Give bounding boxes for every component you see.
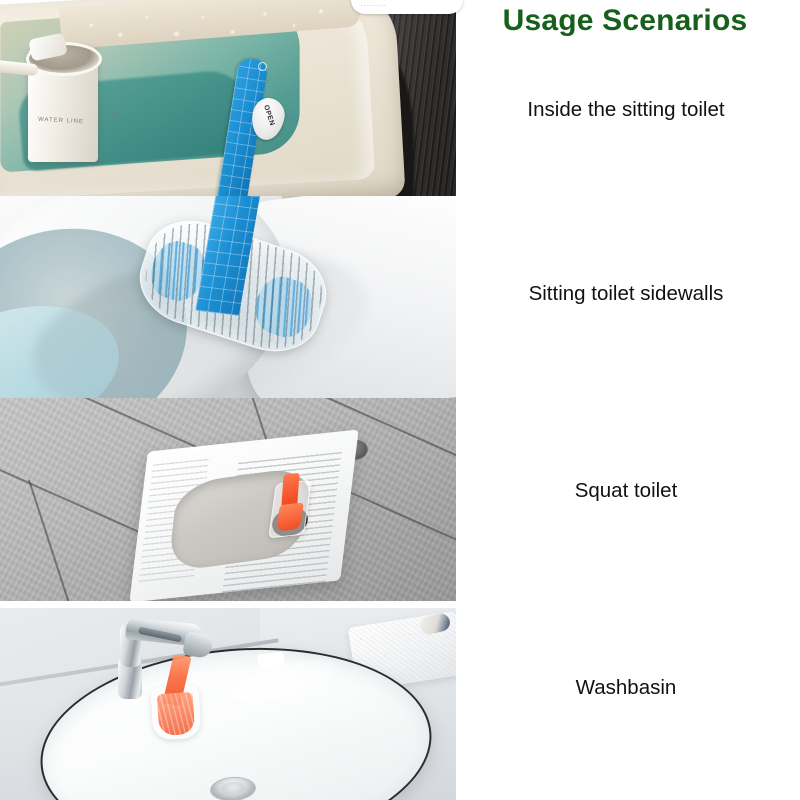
text-column: Usage Scenarios Inside the sitting toile… bbox=[456, 0, 800, 800]
usage-scenarios-infographic: WATER LINE MIN OPEN bbox=[0, 0, 800, 800]
floating-badge: ········ bbox=[351, 0, 463, 14]
water-line-min-text: MIN bbox=[110, 112, 120, 119]
panel-top-white-band bbox=[0, 601, 456, 608]
scenario-photo-1-toilet-tank-interior: WATER LINE MIN OPEN bbox=[0, 0, 456, 196]
scenario-photo-3-squat-toilet bbox=[0, 398, 456, 601]
scenario-label-4: Washbasin bbox=[456, 676, 796, 701]
scenario-photo-2-toilet-sidewall bbox=[0, 196, 456, 398]
floating-badge-text: ········ bbox=[360, 1, 386, 10]
scenario-label-1: Inside the sitting toilet bbox=[456, 98, 796, 123]
orange-gel-strip-base bbox=[157, 692, 196, 736]
scenario-label-3: Squat toilet bbox=[456, 479, 796, 504]
scenario-label-2: Sitting toilet sidewalls bbox=[456, 282, 796, 307]
page-title: Usage Scenarios bbox=[456, 2, 794, 40]
scenario-photo-4-washbasin bbox=[0, 601, 456, 800]
photo-column: WATER LINE MIN OPEN bbox=[0, 0, 456, 800]
